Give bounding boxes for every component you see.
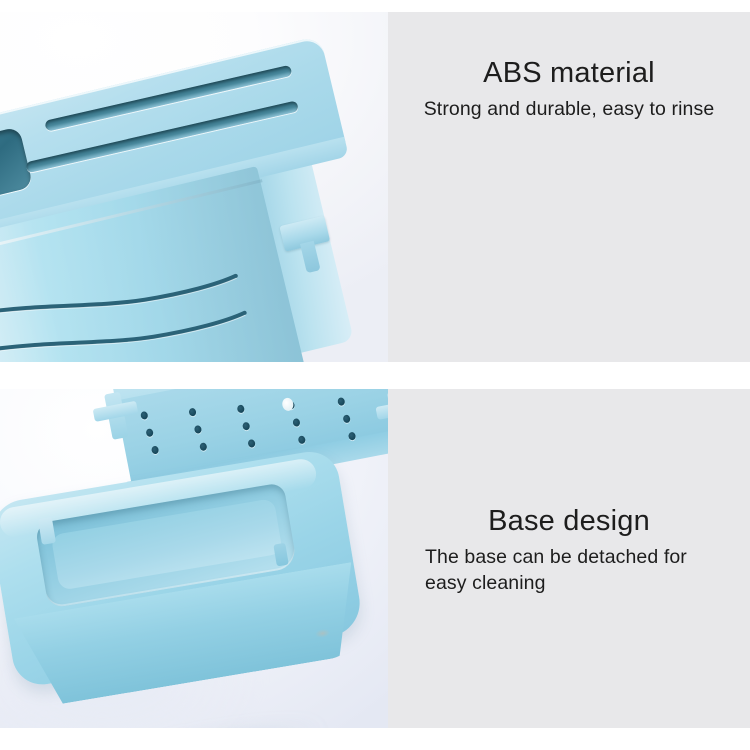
feature-headline-abs-material: ABS material	[388, 56, 750, 90]
product-photo-base-design	[0, 389, 388, 728]
feature-headline-base-design: Base design	[388, 504, 750, 538]
feature-subtitle-abs-material: Strong and durable, easy to rinse	[396, 96, 742, 122]
feature-subtitle-base-design: The base can be detached for easy cleani…	[425, 544, 725, 596]
product-photo-abs-material	[0, 12, 388, 362]
text-pane-base-design: Base design The base can be detached for…	[388, 389, 750, 728]
product-feature-image: ABS material Strong and durable, easy to…	[0, 0, 750, 750]
text-pane-abs-material: ABS material Strong and durable, easy to…	[388, 12, 750, 362]
detachable-base-tray	[0, 447, 369, 714]
organizer-body-illustration	[0, 28, 388, 362]
feature-panel-abs-material: ABS material Strong and durable, easy to…	[0, 12, 750, 362]
feature-panel-base-design: Base design The base can be detached for…	[0, 389, 750, 728]
